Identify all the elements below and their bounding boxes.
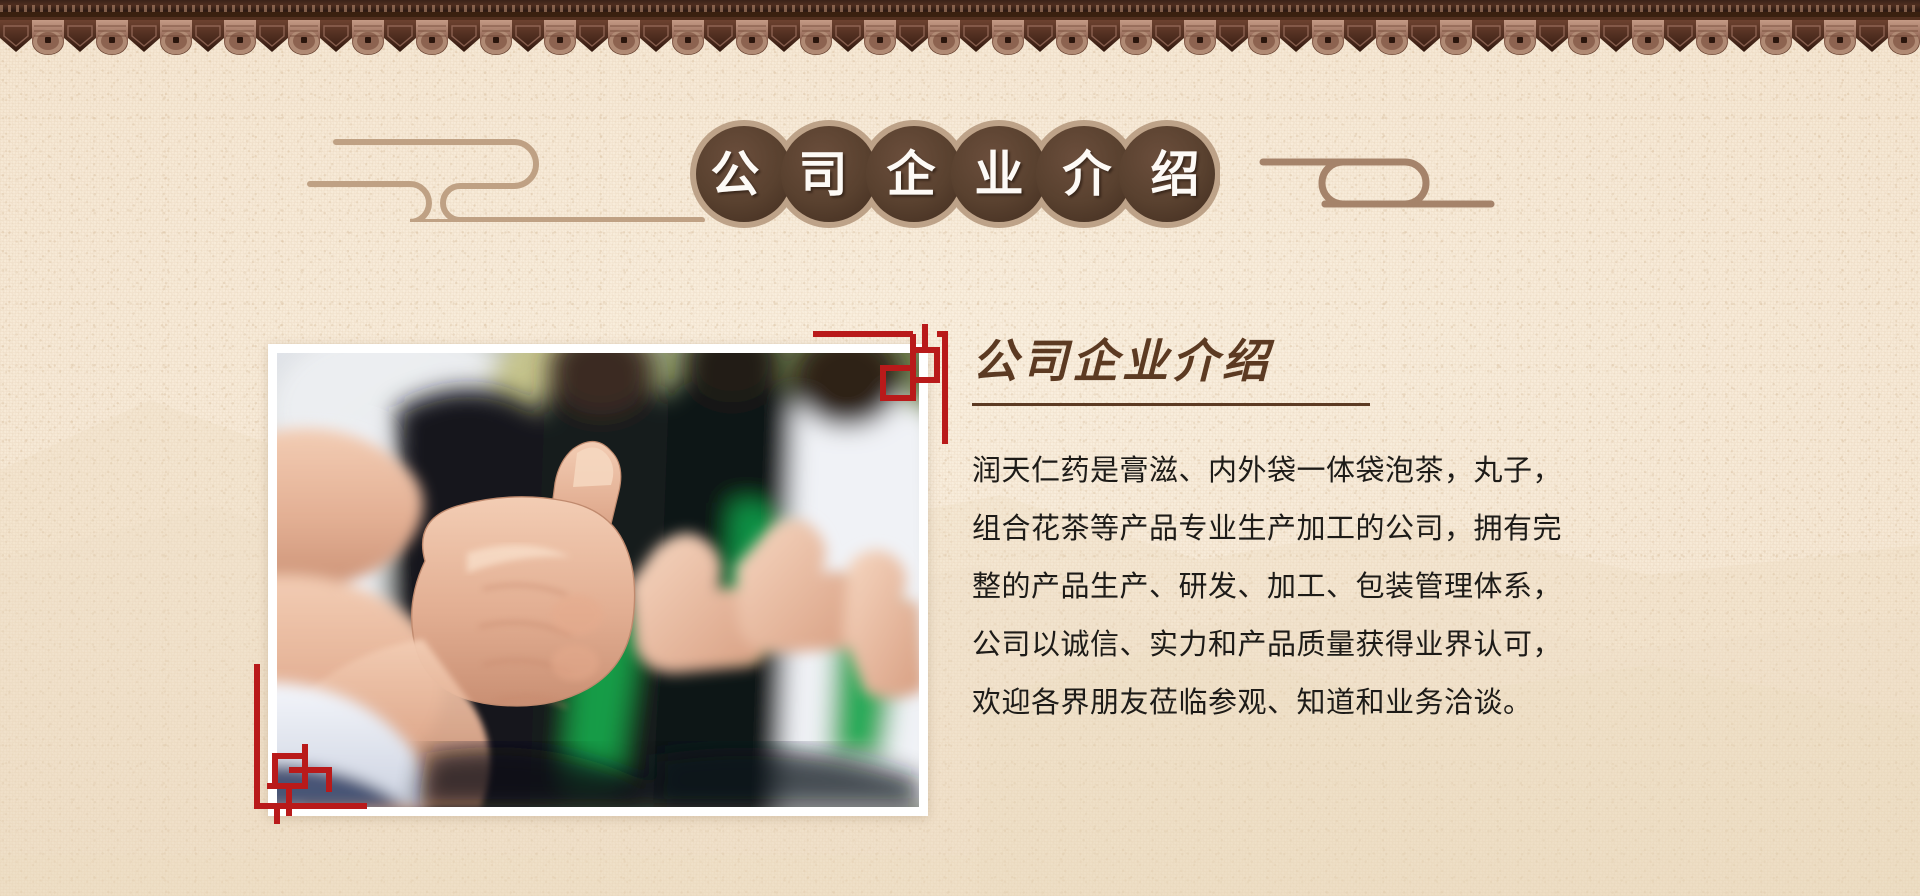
- page-title-banner: 公 司 企 业 介 绍: [690, 118, 1220, 230]
- eaves-tile-row: [0, 12, 1920, 62]
- paragraph-line: 润天仁药是膏滋、内外袋一体袋泡茶，丸子，: [972, 442, 1712, 500]
- roof-eaves-border: [0, 0, 1920, 62]
- cloud-ornament-right: [1255, 112, 1500, 222]
- page-root: 公 司 企 业 介 绍: [0, 0, 1920, 896]
- company-intro-paragraph: 润天仁药是膏滋、内外袋一体袋泡茶，丸子， 组合花茶等产品专业生产加工的公司，拥有…: [972, 442, 1712, 732]
- cloud-ornament-left: [300, 112, 720, 222]
- corner-ornament-bottom-left: [243, 664, 393, 824]
- company-intro-section: 公司企业介绍 润天仁药是膏滋、内外袋一体袋泡茶，丸子， 组合花茶等产品专业生产加…: [972, 336, 1712, 732]
- section-heading: 公司企业介绍: [972, 336, 1712, 387]
- title-char-3: 企: [867, 150, 955, 199]
- title-char-2: 司: [779, 150, 867, 199]
- heading-underline: [972, 403, 1370, 406]
- title-char-1: 公: [691, 150, 779, 199]
- paragraph-line: 欢迎各界朋友莅临参观、知道和业务洽谈。: [972, 674, 1712, 732]
- title-char-4: 业: [955, 150, 1043, 199]
- paragraph-line: 公司以诚信、实力和产品质量获得业界认可，: [972, 616, 1712, 674]
- paragraph-line: 组合花茶等产品专业生产加工的公司，拥有完: [972, 500, 1712, 558]
- title-char-5: 介: [1043, 150, 1131, 199]
- corner-ornament-top-right: [813, 324, 953, 454]
- paragraph-line: 整的产品生产、研发、加工、包装管理体系，: [972, 558, 1712, 616]
- title-char-6: 绍: [1131, 150, 1219, 199]
- company-photo-block: [268, 344, 928, 816]
- title-banner-text: 公 司 企 业 介 绍: [690, 118, 1220, 230]
